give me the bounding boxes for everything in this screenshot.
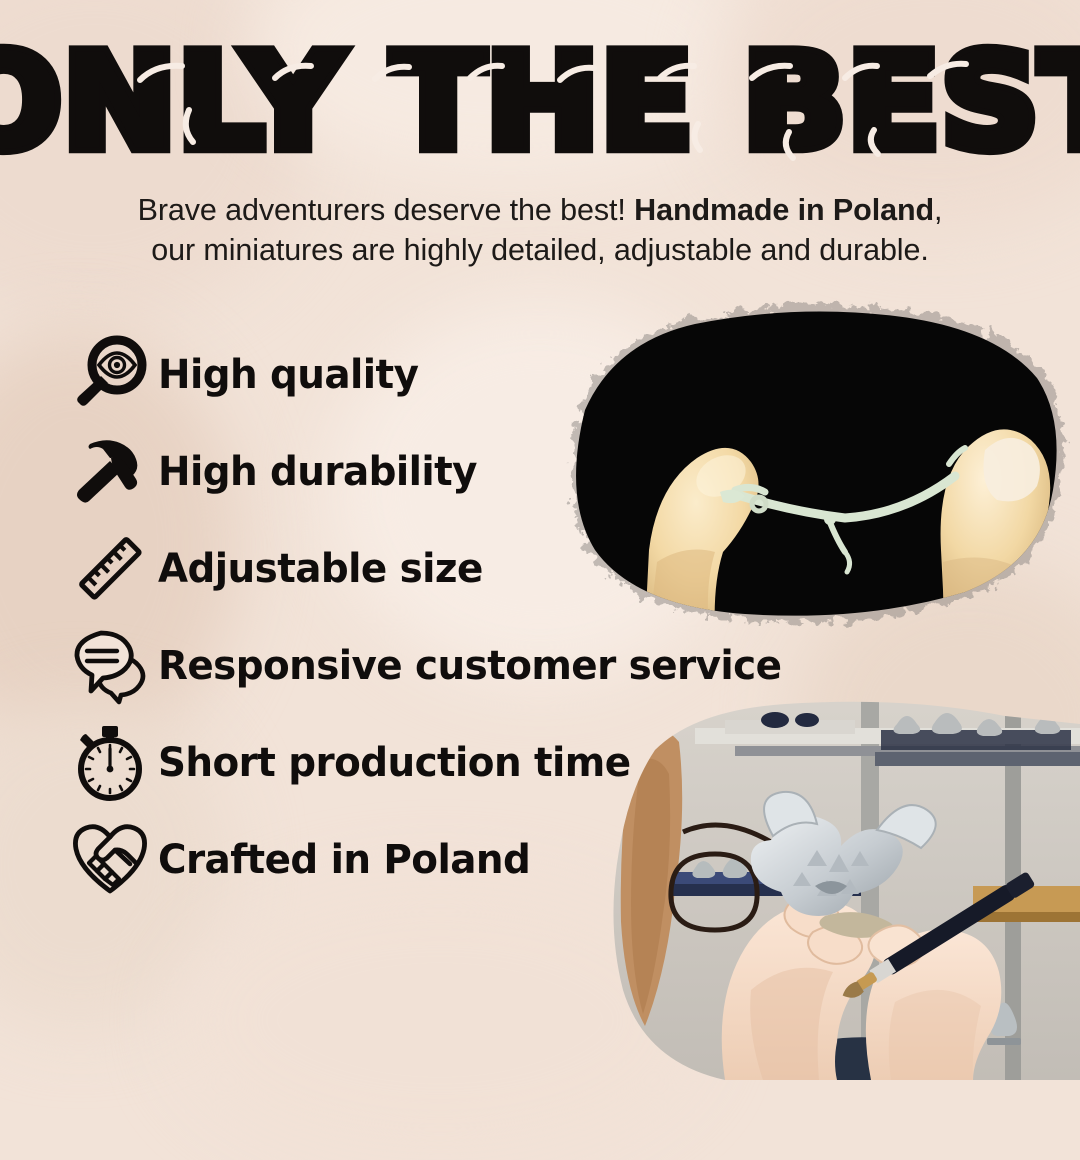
feature-item-high-durability[interactable]: High durability xyxy=(62,422,882,519)
feature-item-high-quality[interactable]: High quality xyxy=(62,325,882,422)
subtitle: Brave adventurers deserve the best! Hand… xyxy=(0,190,1080,271)
feature-label: Short production time xyxy=(158,738,631,786)
ruler-icon xyxy=(62,524,158,612)
feature-label: Adjustable size xyxy=(158,544,483,592)
subtitle-line-2: our miniatures are highly detailed, adju… xyxy=(0,230,1080,270)
hammer-icon xyxy=(62,427,158,515)
feature-label: High quality xyxy=(158,350,418,398)
feature-list: High quality High durability xyxy=(62,325,882,907)
stopwatch-icon xyxy=(62,718,158,806)
feature-item-responsive-customer-service[interactable]: Responsive customer service xyxy=(62,616,882,713)
feature-item-short-production-time[interactable]: Short production time xyxy=(62,713,882,810)
page-title: ONLY THE BEST xyxy=(0,34,1080,156)
subtitle-bold-text: Handmade in Poland xyxy=(634,193,934,227)
heart-handshake-icon xyxy=(62,815,158,903)
feature-label: Responsive customer service xyxy=(158,641,781,689)
feature-label: Crafted in Poland xyxy=(158,835,530,883)
feature-label: High durability xyxy=(158,447,477,495)
feature-item-crafted-in-poland[interactable]: Crafted in Poland xyxy=(62,810,882,907)
magnifier-eye-icon xyxy=(62,330,158,418)
page-title-text: ONLY THE BEST xyxy=(0,34,1080,170)
speech-bubbles-icon xyxy=(62,621,158,709)
subtitle-line-1: Brave adventurers deserve the best! Hand… xyxy=(0,190,1080,230)
subtitle-comma: , xyxy=(934,193,942,227)
feature-item-adjustable-size[interactable]: Adjustable size xyxy=(62,519,882,616)
subtitle-lead-text: Brave adventurers deserve the best! xyxy=(138,193,626,227)
